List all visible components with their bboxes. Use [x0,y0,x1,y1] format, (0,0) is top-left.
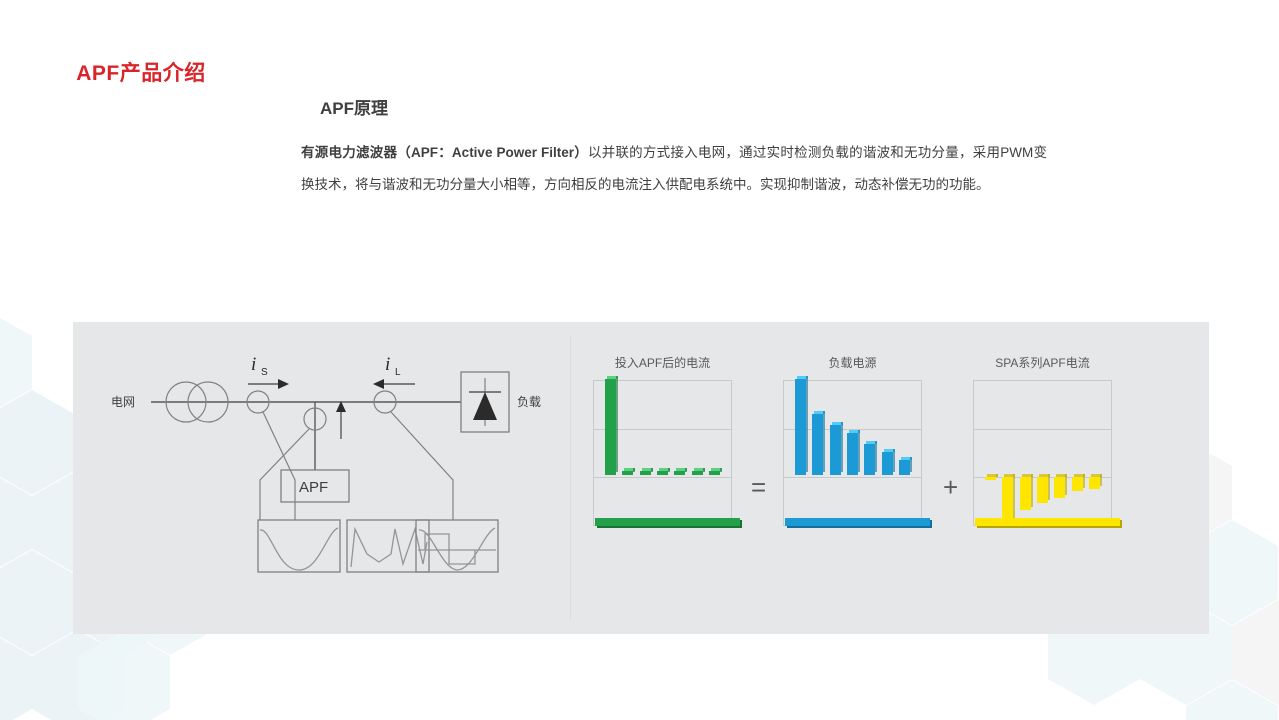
grid-label-text: 电网 [111,395,135,409]
ct-source-lead [263,412,295,520]
current-source-annotation: i S [248,354,289,389]
chart-spa-apf-current-title: SPA系列APF电流 [973,354,1112,371]
bar [899,460,910,475]
chart-load-source-baseline [785,518,930,526]
intro-card: APF原理 有源电力滤波器（APF：Active Power Filter）以并… [265,70,1083,242]
intro-lead-text: 有源电力滤波器（APF：Active Power Filter） [301,145,588,160]
bar [985,477,996,480]
bar [605,379,616,475]
chart-spa-apf-current-frame [973,380,1112,526]
load-label-text: 负载 [517,395,541,409]
bar [622,471,633,475]
chart-apf-result-frame [593,380,732,526]
current-source-subscript: S [261,367,268,378]
chart-load-source-plot [789,381,916,525]
bar [674,471,685,475]
current-load-symbol: i [385,354,390,375]
panel-divider [570,336,571,620]
chart-spa-apf-current-baseline [975,518,1120,526]
chart-load-source-frame [783,380,922,526]
bar [1054,477,1065,498]
bar [830,425,841,475]
plus-symbol: + [943,472,958,503]
current-source-symbol: i [251,354,256,375]
composite-waveform-icon [416,520,498,572]
bar [657,471,668,475]
chart-apf-result-title: 投入APF后的电流 [593,354,732,371]
bar [1072,477,1083,491]
chart-apf-result-baseline [595,518,740,526]
current-load-subscript: L [395,367,401,378]
bar [692,471,703,475]
bar [795,379,806,475]
sine-waveform-icon [258,520,340,572]
section-tag: APF产品介绍 [52,50,230,94]
bar [812,414,823,475]
chart-apf-result: 投入APF后的电流 [593,380,732,526]
chart-load-source-title: 负载电源 [783,354,922,371]
bar [1020,477,1031,510]
charts-area: 投入APF后的电流 = 负载电源 [593,322,1209,634]
ct-load-lead [391,412,453,520]
chart-spa-apf-current: SPA系列APF电流 [973,380,1112,526]
circuit-schematic: 电网 i S APF [103,342,553,614]
ct-apf-lead [260,429,309,520]
apf-box: APF [281,470,349,502]
injection-arrow-icon [336,401,346,439]
chart-spa-apf-current-bars [985,477,1100,523]
bar [1037,477,1048,503]
bar [709,471,720,475]
chart-load-source-bars [795,379,910,475]
bar [882,452,893,475]
intro-title: APF原理 [320,94,1055,119]
bar [1089,477,1100,489]
intro-body: 有源电力滤波器（APF：Active Power Filter）以并联的方式接入… [301,137,1047,200]
chart-apf-result-plot [599,381,726,525]
chart-spa-apf-current-plot [979,381,1106,525]
bar [1002,477,1013,523]
bar [847,433,858,475]
rectifier-diode-icon [461,372,509,432]
equals-symbol: = [751,472,766,503]
distorted-waveform-icon [347,520,429,572]
section-tag-label: APF产品介绍 [76,57,206,87]
diagram-panel: 电网 i S APF [73,322,1209,634]
apf-box-label: APF [299,479,328,496]
current-load-annotation: i L [373,354,415,389]
bar [864,444,875,475]
chart-apf-result-bars [605,379,720,475]
chart-load-source: 负载电源 [783,380,922,526]
bar [640,471,651,475]
